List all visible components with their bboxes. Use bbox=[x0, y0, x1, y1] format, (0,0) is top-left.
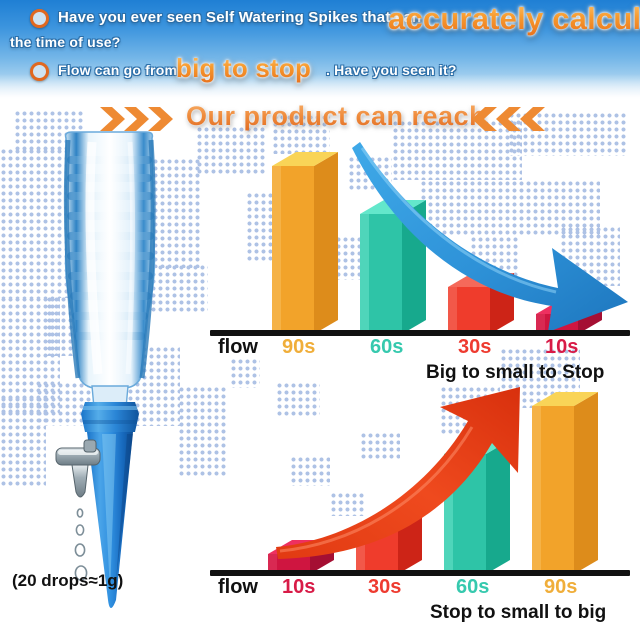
tick-label-10s-bottom: 10s bbox=[282, 576, 315, 599]
flow-label-bottom: flow bbox=[218, 576, 258, 599]
chevrons-left-icon bbox=[470, 103, 548, 135]
tick-label-60s-top: 60s bbox=[370, 336, 403, 359]
chart-stop-to-small-to-big: flow 10s 30s 60s 90s Stop to small to bi… bbox=[200, 385, 640, 640]
bar-90s-top bbox=[272, 152, 324, 332]
banner-title: Our product can reach bbox=[186, 101, 486, 132]
inverted-plastic-bottle-icon bbox=[66, 132, 155, 408]
headline-line3-part2: . Have you seen it? bbox=[326, 62, 457, 78]
tick-label-30s-bottom: 30s bbox=[368, 576, 401, 599]
headline-line3-part1: Flow can go from bbox=[58, 62, 177, 78]
bullet-circle-icon-1 bbox=[30, 9, 49, 28]
headline-line1-text: Have you ever seen Self Watering Spikes … bbox=[58, 9, 421, 26]
curved-arrow-up-right-icon bbox=[272, 381, 572, 561]
flow-label-top: flow bbox=[218, 336, 258, 359]
headline-accurately-calculate: accurately calculate bbox=[388, 1, 640, 37]
tick-label-60s-bottom: 60s bbox=[456, 576, 489, 599]
product-illustration bbox=[30, 130, 220, 630]
headline-line2-text: the time of use? bbox=[10, 34, 121, 50]
chart-big-to-small-to-stop: flow 90s 60s 30s 10s Big to small to Sto… bbox=[200, 140, 640, 390]
drops-note-label: (20 drops≈1g) bbox=[12, 571, 123, 591]
water-droplets-icon bbox=[75, 509, 86, 580]
product-infographic: Have you ever seen Self Watering Spikes … bbox=[0, 0, 640, 640]
headline-big-to-stop: big to stop bbox=[176, 53, 311, 84]
bullet-circle-icon-2 bbox=[30, 62, 49, 81]
tick-label-30s-top: 30s bbox=[458, 336, 491, 359]
curved-arrow-down-right-icon bbox=[352, 136, 640, 336]
caption-stop-to-small-to-big: Stop to small to big bbox=[430, 602, 606, 624]
tick-label-10s-top: 10s bbox=[545, 336, 578, 359]
tick-label-90s-top: 90s bbox=[282, 336, 315, 359]
tick-label-90s-bottom: 90s bbox=[544, 576, 577, 599]
